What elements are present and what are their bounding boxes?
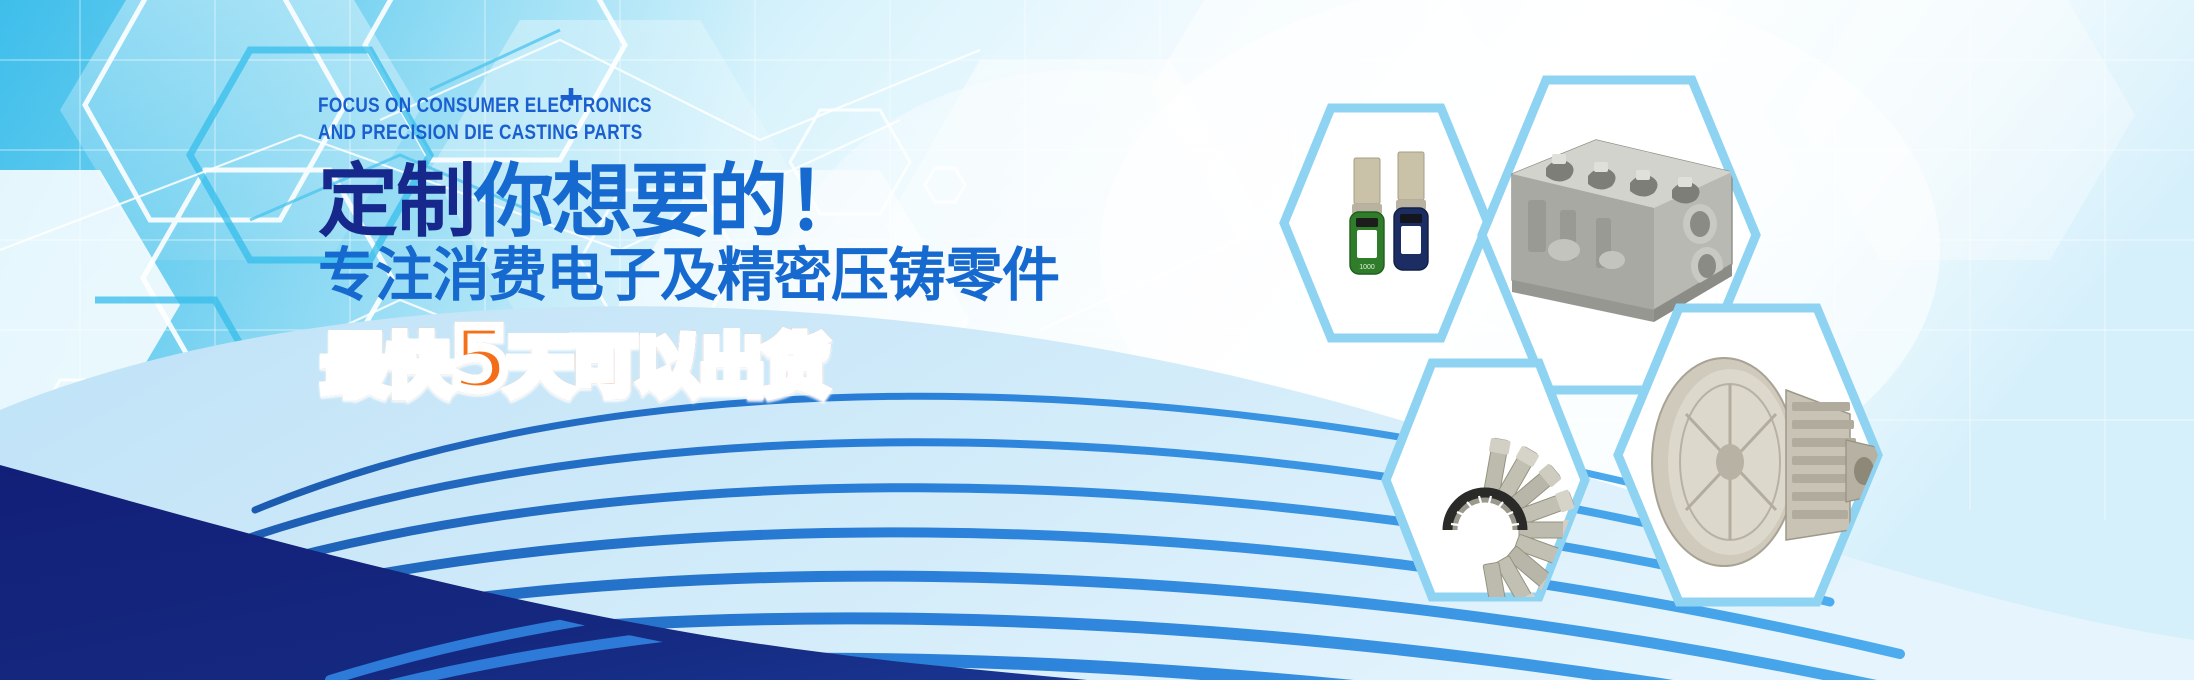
promo-prefix: 最快 xyxy=(322,328,450,405)
headline-block: FOCUS ON CONSUMER ELECTRONICS AND PRECIS… xyxy=(318,92,1278,405)
product-hex-die-cast-fan-blades xyxy=(1378,355,1593,605)
svg-text:1000: 1000 xyxy=(1359,264,1375,271)
promo-number: 5 xyxy=(450,310,507,410)
engine-block-image xyxy=(1512,140,1732,322)
page-title: 定制你想要的！ xyxy=(318,161,1278,243)
promo-line: 最快5天可以出货 xyxy=(322,315,1278,405)
promo-banner: FOCUS ON CONSUMER ELECTRONICS AND PRECIS… xyxy=(0,0,2194,680)
product-hex-sfp-transceiver-modules: 1000 xyxy=(1276,100,1496,346)
promo-suffix: 天可以出货 xyxy=(507,328,827,405)
headline-part-1: 定制 xyxy=(318,155,474,248)
headline-part-2: 你想要的！ xyxy=(474,155,864,248)
promo-text: 最快5天可以出货 xyxy=(322,315,1278,405)
eyebrow-tagline: FOCUS ON CONSUMER ELECTRONICS AND PRECIS… xyxy=(318,92,1105,147)
product-hex-die-cast-motor-housing xyxy=(1610,300,1886,610)
plus-icon: + xyxy=(559,80,583,114)
subheadline: 专注消费电子及精密压铸零件 xyxy=(318,244,1278,307)
